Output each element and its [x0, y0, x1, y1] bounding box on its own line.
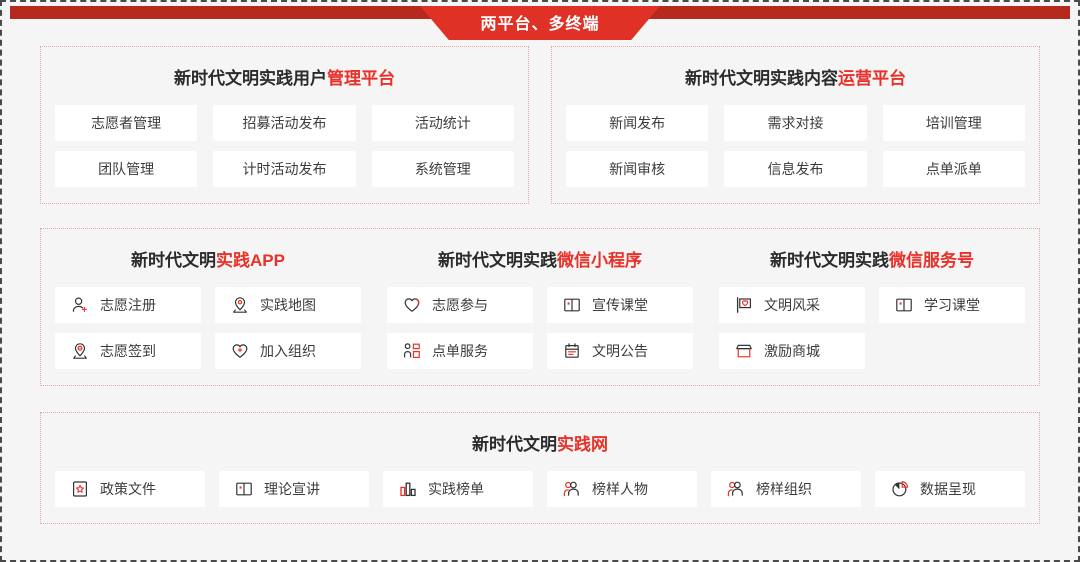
- terminal-column-groups: 新时代文明实践APP 志愿注册 实践地图: [55, 239, 1025, 369]
- group-title-plain: 新时代文明实践: [438, 251, 557, 270]
- icon-tile-label: 数据呈现: [920, 479, 976, 499]
- icon-tile-practice-map[interactable]: 实践地图: [215, 287, 361, 323]
- icon-tile-label: 志愿签到: [100, 341, 156, 361]
- icon-tile-label: 实践地图: [260, 295, 316, 315]
- button-tile[interactable]: 信息发布: [724, 151, 866, 187]
- icon-tile-study-class[interactable]: 学习课堂: [879, 287, 1025, 323]
- group-miniprogram: 新时代文明实践微信小程序 志愿参与 宣传课堂: [387, 239, 693, 369]
- icon-tile-label: 学习课堂: [924, 295, 980, 315]
- button-tile[interactable]: 点单派单: [883, 151, 1025, 187]
- heart-icon: [403, 296, 421, 314]
- icon-tile-role-model-person[interactable]: 榜样人物: [547, 471, 697, 507]
- icon-tile-label: 实践榜单: [428, 479, 484, 499]
- icon-tile-theory-lecture[interactable]: 理论宣讲: [219, 471, 369, 507]
- icon-tile-join-org[interactable]: 加入组织: [215, 333, 361, 369]
- button-tile[interactable]: 计时活动发布: [213, 151, 355, 187]
- group-service-account: 新时代文明实践微信服务号 文明风采 学习课堂: [719, 239, 1025, 369]
- icon-tile-data-display[interactable]: 数据呈现: [875, 471, 1025, 507]
- panel-title-highlight: 实践网: [557, 435, 608, 454]
- button-tile[interactable]: 招募活动发布: [213, 105, 355, 141]
- icon-tile-publicity-class[interactable]: 宣传课堂: [547, 287, 693, 323]
- open-book-icon: [895, 296, 913, 314]
- user-add-icon: [71, 296, 89, 314]
- map-pin-icon: [231, 296, 249, 314]
- panel-title-content-operation: 新时代文明实践内容运营平台: [566, 57, 1025, 105]
- group-title-miniprogram: 新时代文明实践微信小程序: [387, 239, 693, 287]
- panel-website: 新时代文明实践网 政策文件 理论宣讲: [40, 412, 1040, 524]
- open-book-icon: [235, 480, 253, 498]
- open-book-icon: [563, 296, 581, 314]
- website-tile-row: 政策文件 理论宣讲 实践榜单: [55, 471, 1025, 507]
- icon-tile-label: 文明风采: [764, 295, 820, 315]
- two-persons-icon: [727, 480, 745, 498]
- icon-tile-label: 榜样人物: [592, 479, 648, 499]
- heart-plus-icon: [231, 342, 249, 360]
- icon-tile-volunteer-register[interactable]: 志愿注册: [55, 287, 201, 323]
- icon-tile-label: 点单服务: [432, 341, 488, 361]
- icon-tile-role-model-org[interactable]: 榜样组织: [711, 471, 861, 507]
- icon-tile-label: 宣传课堂: [592, 295, 648, 315]
- button-tile[interactable]: 新闻审核: [566, 151, 708, 187]
- icon-tile-policy-docs[interactable]: 政策文件: [55, 471, 205, 507]
- shop-icon: [735, 342, 753, 360]
- tile-pair-miniprogram: 志愿参与 宣传课堂 点单服务: [387, 287, 693, 369]
- two-persons-icon: [563, 480, 581, 498]
- infographic-root: 两平台、多终端 新时代文明实践用户管理平台 志愿者管理 招募活动发布 活动统计 …: [0, 0, 1080, 562]
- panel-title-user-management: 新时代文明实践用户管理平台: [55, 57, 514, 105]
- document-star-icon: [71, 480, 89, 498]
- bar-chart-icon: [399, 480, 417, 498]
- group-title-plain: 新时代文明: [131, 251, 216, 270]
- panel-content-operation: 新时代文明实践内容运营平台 新闻发布 需求对接 培训管理 新闻审核 信息发布 点…: [551, 46, 1040, 204]
- button-grid-content-operation: 新闻发布 需求对接 培训管理 新闻审核 信息发布 点单派单: [566, 105, 1025, 187]
- panel-title-plain: 新时代文明实践内容: [685, 69, 838, 88]
- icon-tile-label: 榜样组织: [756, 479, 812, 499]
- group-title-highlight: 微信服务号: [889, 251, 974, 270]
- icon-tile-label: 理论宣讲: [264, 479, 320, 499]
- panel-title-highlight: 运营平台: [838, 69, 906, 88]
- panel-terminals: 新时代文明实践APP 志愿注册 实践地图: [40, 228, 1040, 386]
- group-title-plain: 新时代文明实践: [770, 251, 889, 270]
- button-tile[interactable]: 志愿者管理: [55, 105, 197, 141]
- tile-pair-service-account: 文明风采 学习课堂 激励商城: [719, 287, 1025, 369]
- button-tile[interactable]: 活动统计: [372, 105, 514, 141]
- panel-title-highlight: 管理平台: [327, 69, 395, 88]
- icon-tile-label: 激励商城: [764, 341, 820, 361]
- icon-tile-announcement[interactable]: 文明公告: [547, 333, 693, 369]
- section-terminals: 新时代文明实践APP 志愿注册 实践地图: [40, 228, 1040, 386]
- icon-tile-label: 加入组织: [260, 341, 316, 361]
- group-title-app: 新时代文明实践APP: [55, 239, 361, 287]
- group-title-highlight: 微信小程序: [557, 251, 642, 270]
- button-tile[interactable]: 新闻发布: [566, 105, 708, 141]
- pie-chart-icon: [891, 480, 909, 498]
- icon-tile-civilization-style[interactable]: 文明风采: [719, 287, 865, 323]
- panel-title-website: 新时代文明实践网: [55, 423, 1025, 471]
- pin-check-icon: [71, 342, 89, 360]
- section-website: 新时代文明实践网 政策文件 理论宣讲: [40, 412, 1040, 524]
- group-title-highlight: 实践APP: [216, 251, 285, 270]
- group-app: 新时代文明实践APP 志愿注册 实践地图: [55, 239, 361, 369]
- panel-title-plain: 新时代文明实践用户: [174, 69, 327, 88]
- group-icon: [403, 342, 421, 360]
- icon-tile-order-service[interactable]: 点单服务: [387, 333, 533, 369]
- button-tile[interactable]: 系统管理: [372, 151, 514, 187]
- panel-title-plain: 新时代文明: [472, 435, 557, 454]
- button-tile[interactable]: 培训管理: [883, 105, 1025, 141]
- button-grid-user-management: 志愿者管理 招募活动发布 活动统计 团队管理 计时活动发布 系统管理: [55, 105, 514, 187]
- group-title-service-account: 新时代文明实践微信服务号: [719, 239, 1025, 287]
- button-tile[interactable]: 团队管理: [55, 151, 197, 187]
- flag-heart-icon: [735, 296, 753, 314]
- banner-title: 两平台、多终端: [420, 6, 660, 40]
- icon-tile-reward-mall[interactable]: 激励商城: [719, 333, 865, 369]
- icon-tile-label: 志愿参与: [432, 295, 488, 315]
- icon-tile-label: 文明公告: [592, 341, 648, 361]
- button-tile[interactable]: 需求对接: [724, 105, 866, 141]
- tile-pair-app: 志愿注册 实践地图 志愿签到: [55, 287, 361, 369]
- icon-tile-practice-ranking[interactable]: 实践榜单: [383, 471, 533, 507]
- icon-tile-volunteer-participate[interactable]: 志愿参与: [387, 287, 533, 323]
- icon-tile-label: 志愿注册: [100, 295, 156, 315]
- section-platforms: 新时代文明实践用户管理平台 志愿者管理 招募活动发布 活动统计 团队管理 计时活…: [40, 46, 1040, 204]
- icon-tile-label: 政策文件: [100, 479, 156, 499]
- panel-user-management: 新时代文明实践用户管理平台 志愿者管理 招募活动发布 活动统计 团队管理 计时活…: [40, 46, 529, 204]
- icon-tile-volunteer-checkin[interactable]: 志愿签到: [55, 333, 201, 369]
- calendar-icon: [563, 342, 581, 360]
